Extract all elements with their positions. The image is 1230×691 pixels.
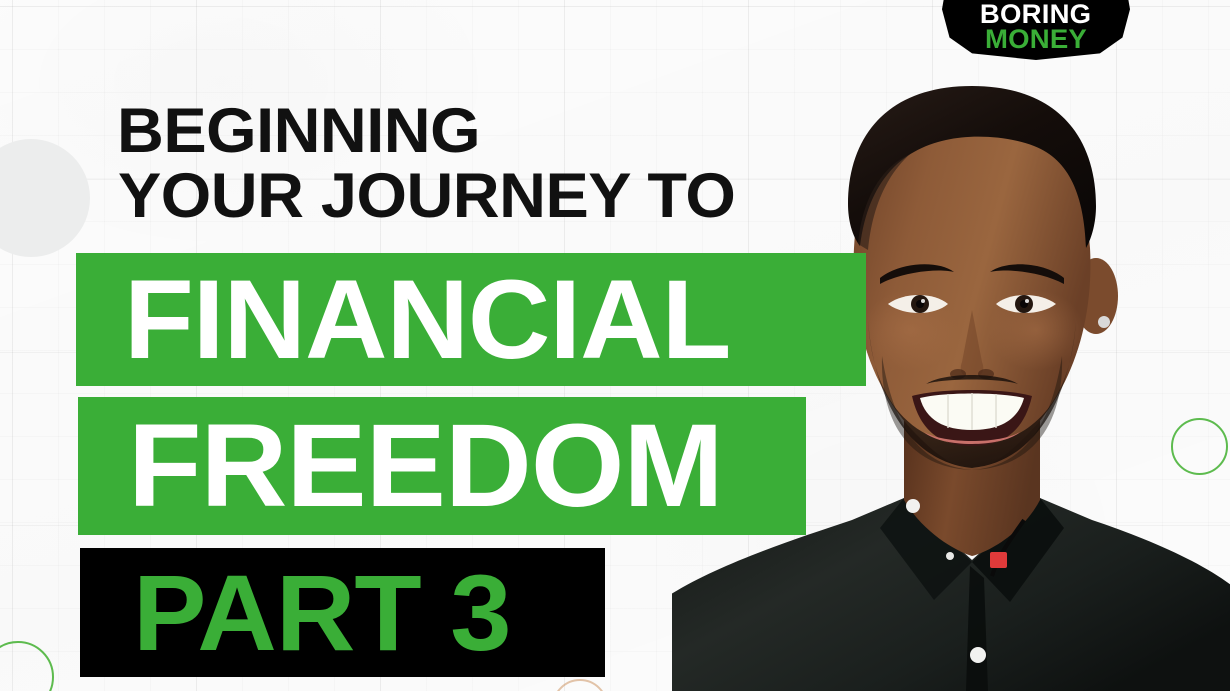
video-thumbnail: BEGINNING YOUR JOURNEY TO FINANCIAL FREE…: [0, 0, 1230, 691]
part-badge-label: PART 3: [133, 559, 510, 667]
headline-highlight-financial: FINANCIAL: [76, 253, 866, 386]
headline-line-1: BEGINNING: [117, 100, 480, 163]
headline-highlight-financial-text: FINANCIAL: [124, 264, 730, 376]
shirt-button: [970, 647, 986, 663]
green-circle-icon-right: [1171, 418, 1228, 475]
collar-button-small: [946, 552, 954, 560]
mic-clip: [990, 552, 1007, 568]
earring-icon: [1098, 316, 1110, 328]
logo-text-money: MONEY: [985, 27, 1087, 53]
boring-money-logo: BORING MONEY: [942, 0, 1130, 60]
headline-block: BEGINNING YOUR JOURNEY TO FINANCIAL FREE…: [0, 0, 920, 691]
headline-highlight-freedom: FREEDOM: [78, 397, 806, 535]
headline-line-2: YOUR JOURNEY TO: [118, 165, 735, 228]
headline-highlight-freedom-text: FREEDOM: [128, 407, 723, 525]
part-badge: PART 3: [80, 548, 605, 677]
